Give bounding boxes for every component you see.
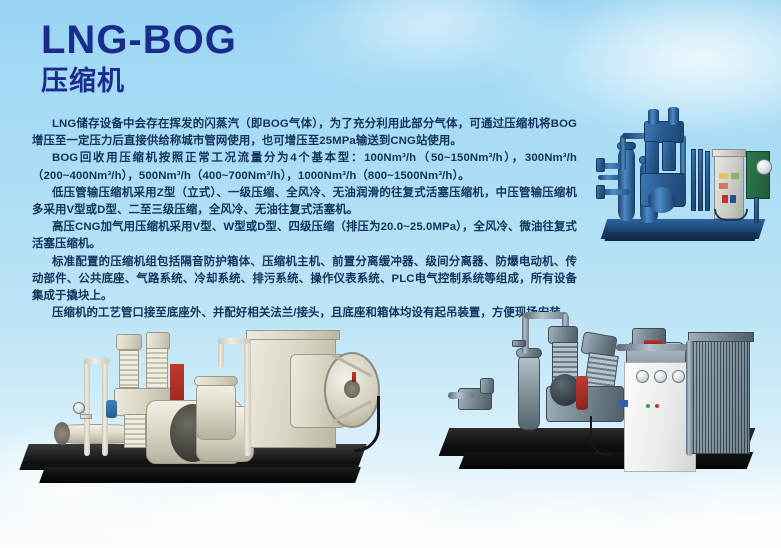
compressor-cylinder — [648, 109, 659, 125]
pressure-gauge — [73, 402, 85, 414]
paragraph: 标准配置的压缩机组包括隔音防护箱体、压缩机主机、前置分离缓冲器、级间分离器、防爆… — [32, 254, 577, 306]
valve-body — [480, 378, 494, 394]
cloud-icon — [330, 0, 550, 70]
frame-pipe — [686, 340, 693, 456]
beige-compressor-image — [18, 318, 388, 508]
pressure-gauge — [636, 370, 649, 383]
valve-handle — [80, 414, 92, 419]
cooler-top — [688, 332, 754, 342]
frame-pipe — [448, 392, 474, 399]
flywheel — [648, 187, 676, 213]
intercooler-tube — [698, 149, 703, 211]
body-copy: LNG储存设备中会存在挥发的闪蒸汽（即BOG气体），为了充分利用此部分气体，可通… — [32, 116, 577, 322]
cylinder-finned — [146, 348, 168, 390]
steel-compressor-image — [440, 300, 766, 505]
paragraph: BOG回收用压缩机按照正常工况流量分为4个基本型：100Nm³/h（50~150… — [32, 150, 577, 184]
arch-pipe — [620, 135, 626, 171]
separator-vessel — [196, 382, 236, 440]
panel-post — [754, 197, 759, 223]
paragraph: 低压管输压缩机采用Z型（立式）、一级压缩、全风冷、无油润滑的往复式活塞压缩机，中… — [32, 185, 577, 219]
drum-endcap — [54, 422, 70, 445]
page-title: LNG-BOG — [41, 18, 237, 62]
cabinet-label — [719, 183, 728, 189]
skid-base-front — [39, 467, 361, 483]
paragraph: 高压CNG加气用压缩机采用V型、W型或D型、四级压缩（排压为20.0~25.0M… — [32, 219, 577, 253]
cabinet-badge — [620, 400, 628, 407]
paragraph: LNG储存设备中会存在挥发的闪蒸汽（即BOG气体），为了充分利用此部分气体，可通… — [32, 116, 577, 150]
frame-pipe — [218, 340, 224, 368]
cabinet-label — [722, 195, 728, 203]
vessel-top — [516, 348, 542, 358]
skid-base-front — [605, 232, 758, 241]
frame-pipe — [244, 338, 251, 456]
suction-pipe — [522, 314, 529, 354]
intercooler-tube — [705, 151, 710, 211]
cabinet-label — [730, 195, 736, 203]
inlet-pipe — [598, 175, 620, 180]
intercooler-tube — [691, 149, 696, 211]
cylinder-fins — [662, 141, 676, 171]
vessel-top — [194, 376, 238, 386]
cabinet-top — [712, 149, 746, 157]
cylinder-finned — [119, 350, 139, 388]
pressure-gauge — [654, 370, 667, 383]
blue-compressor-image — [596, 103, 772, 255]
poster-canvas: LNG-BOG 压缩机 LNG储存设备中会存在挥发的闪蒸汽（即BOG气体），为了… — [0, 0, 781, 548]
cabinet-label — [731, 173, 739, 179]
separator-vessel — [518, 354, 540, 430]
air-cooler — [692, 338, 750, 454]
pressure-gauge — [672, 370, 685, 383]
pressure-gauge — [756, 159, 772, 175]
title-block: LNG-BOG 压缩机 — [41, 18, 237, 98]
frame-pipe — [218, 338, 250, 344]
frame-pipe — [84, 358, 110, 364]
page-subtitle: 压缩机 — [41, 64, 237, 98]
cylinder-finned — [124, 414, 146, 448]
red-guard — [576, 376, 588, 410]
fan-marker — [352, 372, 356, 382]
status-led-green — [646, 404, 650, 408]
cabinet-label — [719, 173, 728, 179]
valve-body — [596, 158, 605, 172]
instrument-panel — [746, 151, 770, 199]
cylinder-fins — [645, 141, 659, 175]
hose — [354, 396, 380, 452]
enclosure-top — [246, 330, 340, 340]
operator-figure — [106, 400, 117, 418]
compressor-cylinder — [668, 107, 679, 125]
status-led-red — [655, 404, 659, 408]
flange — [512, 340, 526, 347]
valve-body — [596, 185, 605, 199]
cylinder-head — [116, 334, 142, 350]
